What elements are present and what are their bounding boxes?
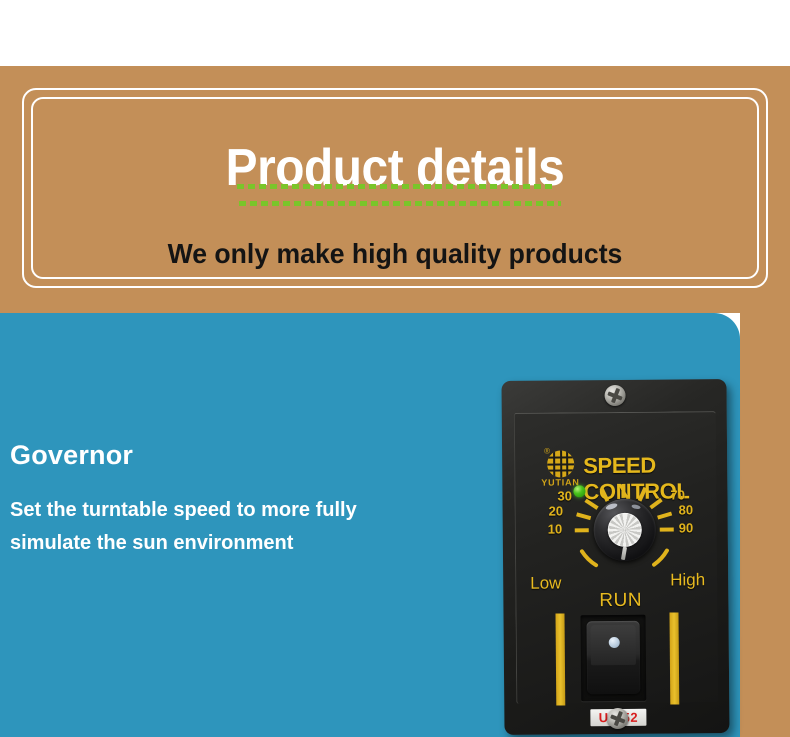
dial-label-run: RUN bbox=[599, 590, 642, 612]
dial-label-30: 30 bbox=[557, 488, 572, 503]
bottom-screw-icon bbox=[607, 708, 628, 729]
knob-highlight bbox=[631, 504, 641, 510]
product-details-banner: Product details We only make high qualit… bbox=[0, 66, 790, 313]
banner-divider-top bbox=[0, 176, 790, 181]
globe-shape bbox=[547, 450, 574, 477]
dial-label-80: 80 bbox=[679, 502, 694, 517]
dashed-line bbox=[239, 201, 561, 206]
dial-label-high: High bbox=[670, 570, 705, 590]
page-title: Product details bbox=[32, 137, 759, 199]
knob-cap[interactable] bbox=[608, 513, 642, 547]
dial-knob[interactable] bbox=[593, 499, 656, 562]
dial-label-10: 10 bbox=[548, 521, 563, 536]
registered-trademark-icon: ® bbox=[544, 447, 550, 456]
rocker-indicator-dot-icon bbox=[609, 637, 620, 648]
knob-pointer-icon bbox=[621, 547, 627, 560]
dashed-line bbox=[237, 184, 553, 189]
knob-highlight bbox=[605, 502, 618, 511]
dial-label-low: Low bbox=[530, 573, 561, 593]
dial-label-20: 20 bbox=[549, 503, 564, 518]
dial-label-70: 70 bbox=[670, 487, 685, 502]
top-screw-icon bbox=[604, 385, 625, 406]
left-yellow-stripe bbox=[555, 613, 565, 705]
banner-divider-bottom bbox=[0, 193, 790, 198]
dial-label-90: 90 bbox=[679, 520, 694, 535]
page-subtitle: We only make high quality products bbox=[20, 238, 771, 270]
rocker-upper-face[interactable] bbox=[591, 625, 636, 665]
right-tan-strip bbox=[740, 313, 790, 737]
top-white-gutter bbox=[0, 0, 790, 66]
speed-control-device-photo: ® YUTIAN SPEED CONTROL bbox=[503, 380, 728, 734]
device-faceplate: ® YUTIAN SPEED CONTROL bbox=[501, 379, 729, 735]
feature-heading: Governor bbox=[10, 440, 133, 471]
device-bezel: ® YUTIAN SPEED CONTROL bbox=[514, 411, 719, 704]
feature-description: Set the turntable speed to more fully si… bbox=[10, 494, 410, 560]
power-rocker-switch[interactable] bbox=[587, 621, 641, 694]
right-yellow-stripe bbox=[669, 612, 679, 704]
globe-grid-icon bbox=[547, 450, 574, 477]
